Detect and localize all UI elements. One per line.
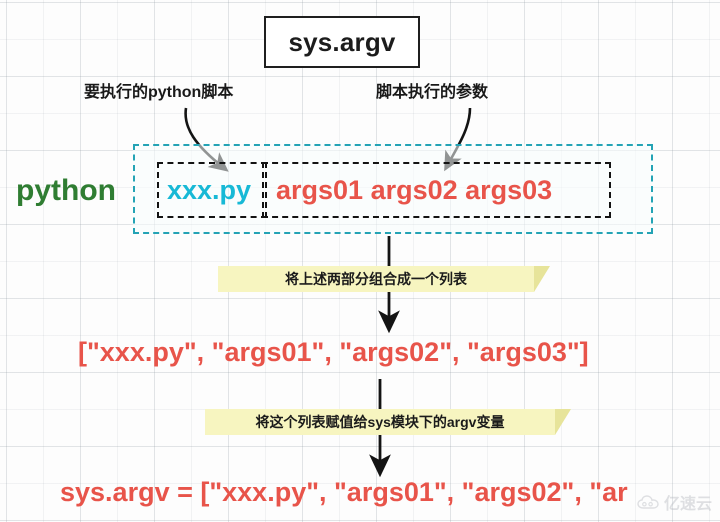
diagram-canvas: sys.argv 要执行的python脚本 脚本执行的参数 python xxx… <box>0 0 720 522</box>
annotation-args-label: 脚本执行的参数 <box>376 78 488 102</box>
step-2-banner-label: 将这个列表赋值给sys模块下的argv变量 <box>256 412 505 432</box>
watermark: 亿速云 <box>637 490 712 514</box>
script-text: xxx.py <box>167 175 251 206</box>
title-box: sys.argv <box>264 16 420 68</box>
banner-fold-icon <box>534 266 550 292</box>
step-2-banner: 将这个列表赋值给sys模块下的argv变量 <box>205 409 555 435</box>
interpreter-text: python <box>16 174 116 208</box>
args-text: args01 args02 args03 <box>276 175 552 206</box>
banner-fold-icon <box>555 409 571 435</box>
watermark-text: 亿速云 <box>664 490 712 514</box>
cloud-icon <box>637 495 659 510</box>
step-2-result: sys.argv = ["xxx.py", "args01", "args02"… <box>60 477 628 508</box>
step-1-banner-label: 将上述两部分组合成一个列表 <box>285 269 467 289</box>
step-1-result: ["xxx.py", "args01", "args02", "args03"] <box>78 337 589 368</box>
step-1-banner: 将上述两部分组合成一个列表 <box>218 266 534 292</box>
page-title: sys.argv <box>288 27 395 58</box>
annotation-script-label: 要执行的python脚本 <box>84 78 233 102</box>
